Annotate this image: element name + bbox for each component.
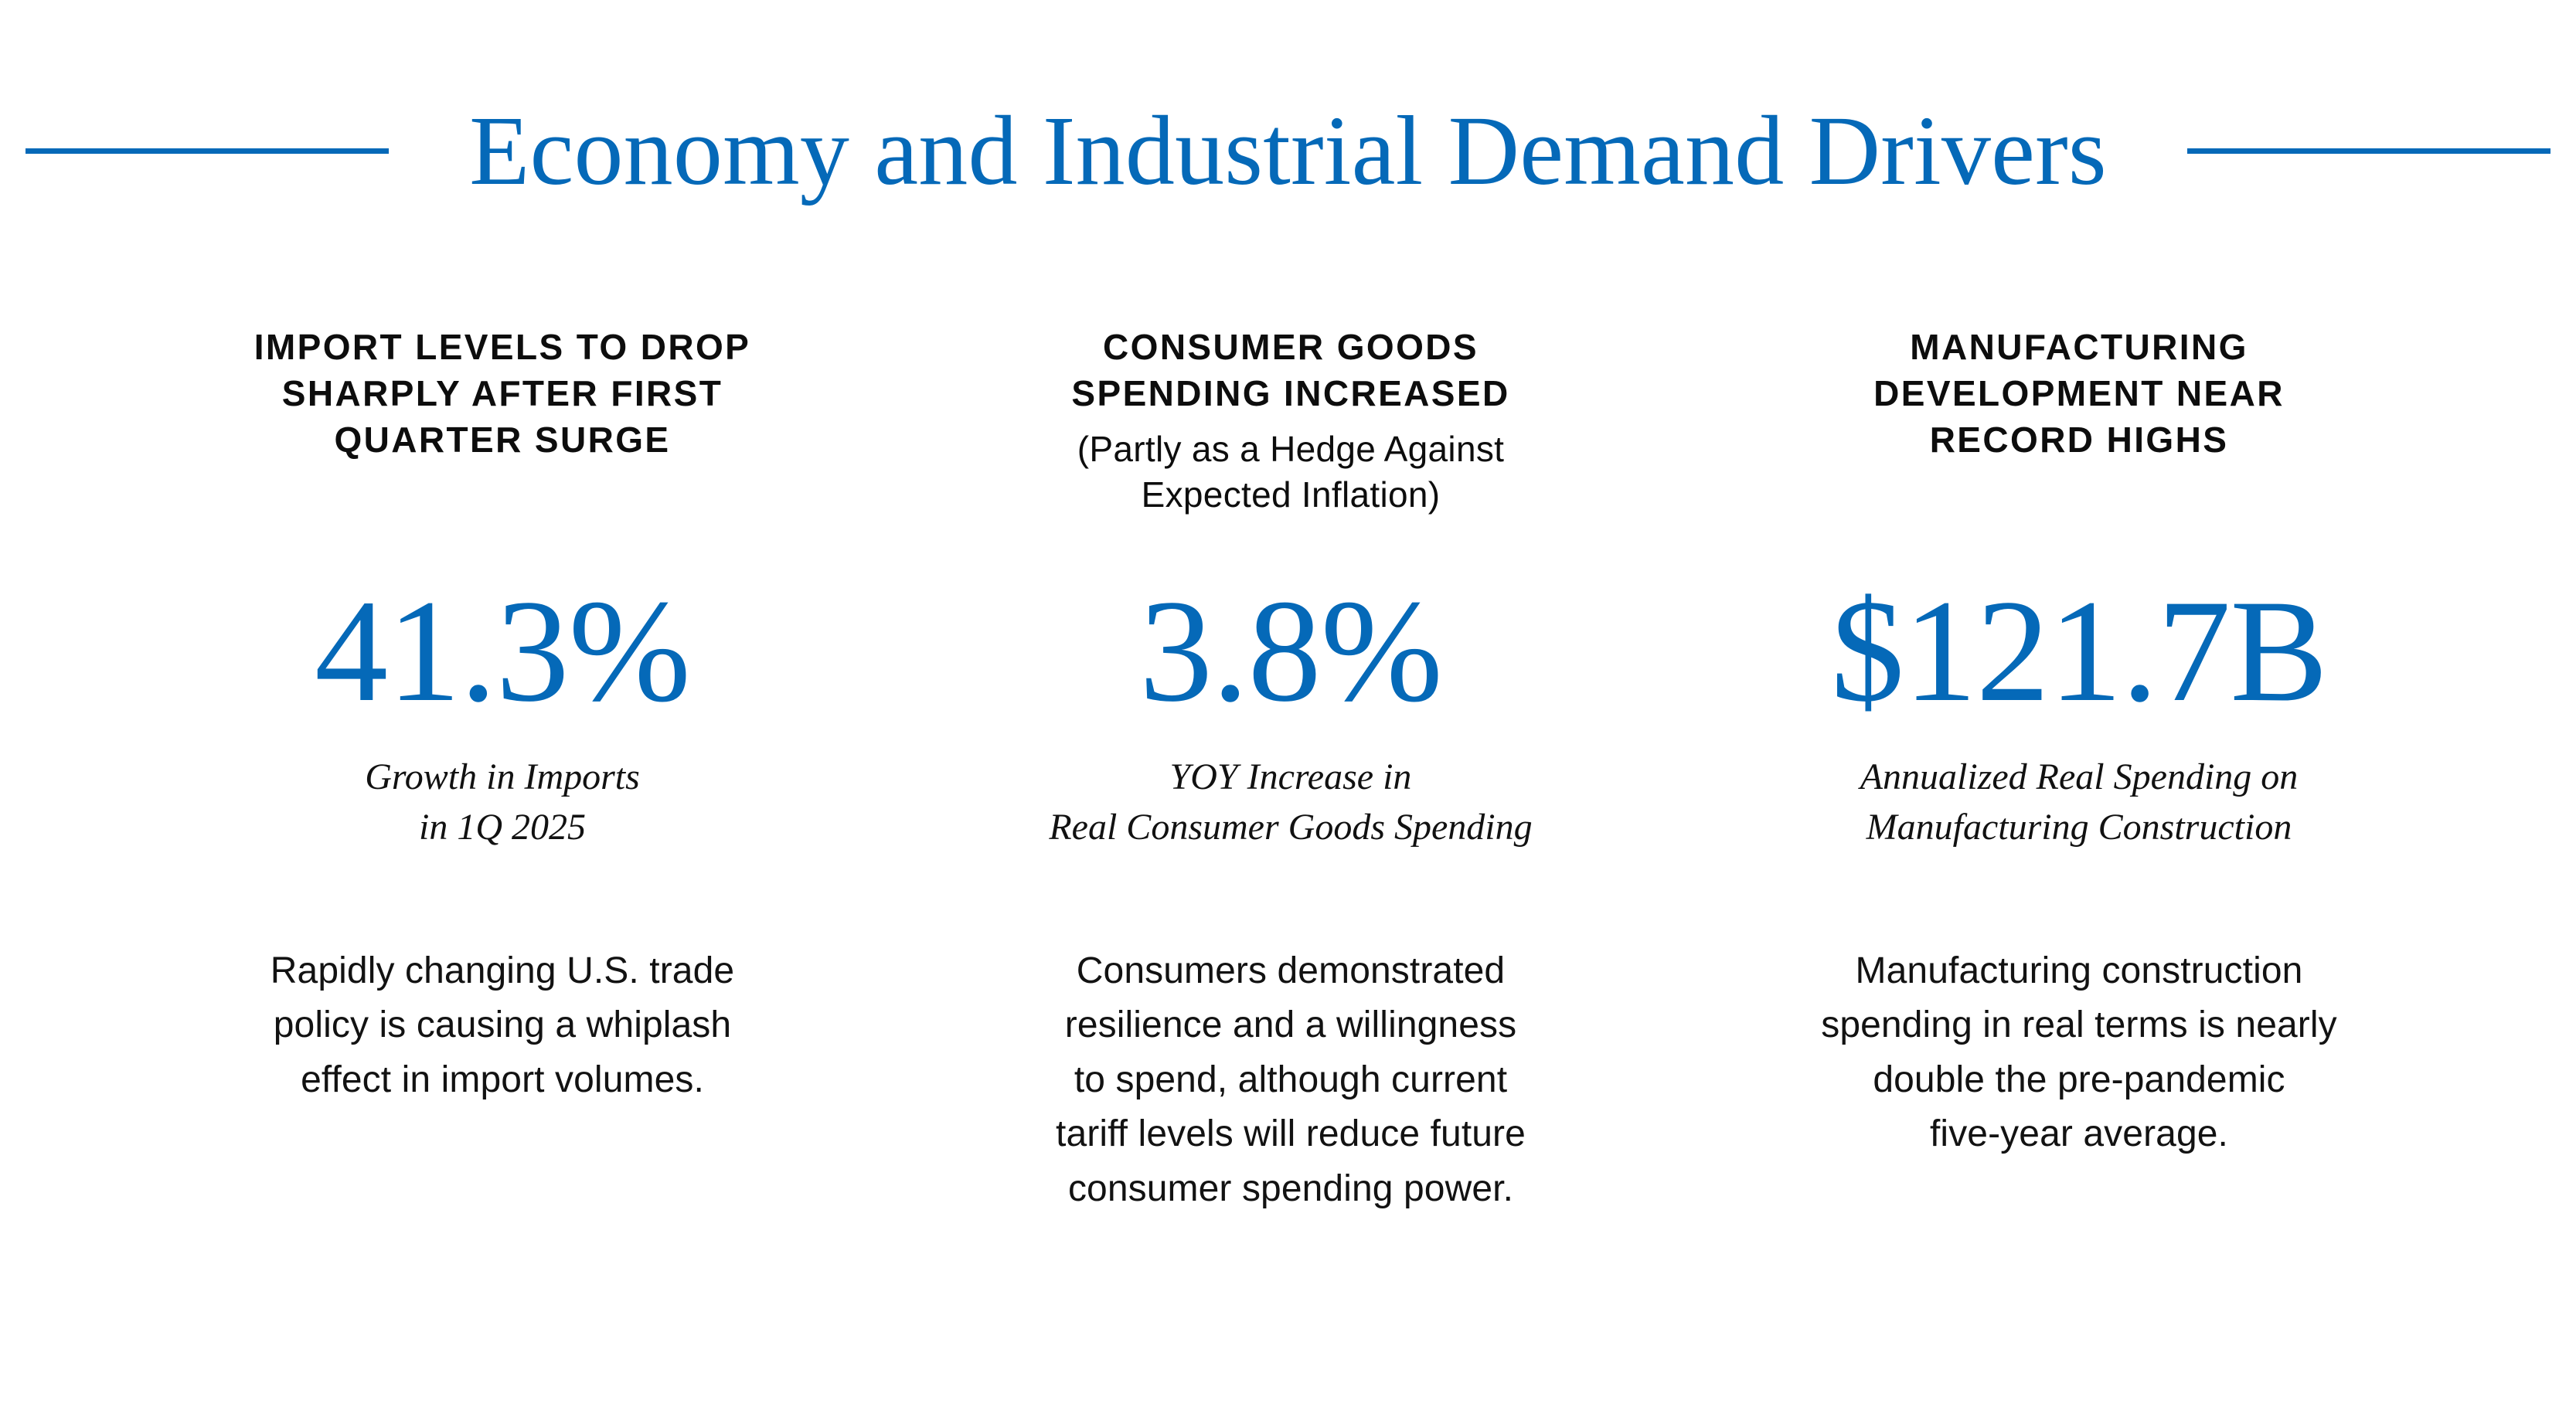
stat-caption: Growth in Imports in 1Q 2025 — [365, 753, 640, 853]
heading-line: CONSUMER GOODS — [904, 325, 1677, 371]
page-header: Economy and Industrial Demand Drivers — [0, 93, 2576, 209]
stat-columns: IMPORT LEVELS TO DROP SHARPLY AFTER FIRS… — [116, 325, 2465, 1216]
stat-caption: YOY Increase in Real Consumer Goods Spen… — [1049, 753, 1532, 853]
stat-value: 3.8% — [1139, 578, 1442, 725]
body-line: five-year average. — [1693, 1107, 2465, 1162]
column-body-text: Consumers demonstrated resilience and a … — [904, 944, 1677, 1217]
stat-value-wrap: $121.7B — [1693, 532, 2465, 725]
stat-value-wrap: 41.3% — [116, 532, 889, 725]
header-rule-left — [26, 148, 389, 154]
column-heading: MANUFACTURING DEVELOPMENT NEAR RECORD HI… — [1693, 325, 2465, 463]
caption-line: Annualized Real Spending on — [1860, 753, 2299, 803]
column-body-text: Rapidly changing U.S. trade policy is ca… — [116, 944, 889, 1108]
stat-column-imports: IMPORT LEVELS TO DROP SHARPLY AFTER FIRS… — [116, 325, 889, 1107]
stat-column-consumer-goods: CONSUMER GOODS SPENDING INCREASED (Partl… — [904, 325, 1677, 1216]
subheading-line: (Partly as a Hedge Against — [904, 427, 1677, 473]
heading-line: DEVELOPMENT NEAR — [1693, 371, 2465, 417]
body-line: Manufacturing construction — [1693, 944, 2465, 999]
heading-line: IMPORT LEVELS TO DROP — [116, 325, 889, 371]
column-subheading: (Partly as a Hedge Against Expected Infl… — [904, 427, 1677, 519]
body-line: resilience and a willingness — [904, 998, 1677, 1053]
stat-caption: Annualized Real Spending on Manufacturin… — [1860, 753, 2299, 853]
subheading-line: Expected Inflation) — [904, 472, 1677, 518]
caption-line: YOY Increase in — [1049, 753, 1532, 803]
stat-value: $121.7B — [1831, 578, 2327, 725]
body-line: Rapidly changing U.S. trade — [116, 944, 889, 999]
heading-block: CONSUMER GOODS SPENDING INCREASED (Partl… — [904, 325, 1677, 532]
caption-line: Manufacturing Construction — [1860, 803, 2299, 853]
body-block: Rapidly changing U.S. trade policy is ca… — [116, 944, 889, 1108]
body-line: effect in import volumes. — [116, 1053, 889, 1108]
body-line: consumer spending power. — [904, 1162, 1677, 1217]
body-line: double the pre-pandemic — [1693, 1053, 2465, 1108]
column-heading: IMPORT LEVELS TO DROP SHARPLY AFTER FIRS… — [116, 325, 889, 463]
caption-line: Real Consumer Goods Spending — [1049, 803, 1532, 853]
heading-line: QUARTER SURGE — [116, 417, 889, 464]
heading-line: MANUFACTURING — [1693, 325, 2465, 371]
body-line: tariff levels will reduce future — [904, 1107, 1677, 1162]
stat-value: 41.3% — [315, 578, 690, 725]
caption-line: Growth in Imports — [365, 753, 640, 803]
body-line: Consumers demonstrated — [904, 944, 1677, 999]
stat-value-wrap: 3.8% — [904, 532, 1677, 725]
body-line: spending in real terms is nearly — [1693, 998, 2465, 1053]
body-line: to spend, although current — [904, 1053, 1677, 1108]
stat-column-manufacturing: MANUFACTURING DEVELOPMENT NEAR RECORD HI… — [1693, 325, 2465, 1162]
header-rule-right — [2187, 148, 2550, 154]
heading-block: IMPORT LEVELS TO DROP SHARPLY AFTER FIRS… — [116, 325, 889, 532]
slide-root: Economy and Industrial Demand Drivers IM… — [0, 0, 2576, 1424]
caption-line: in 1Q 2025 — [365, 803, 640, 853]
heading-line: RECORD HIGHS — [1693, 417, 2465, 464]
column-heading: CONSUMER GOODS SPENDING INCREASED — [904, 325, 1677, 417]
heading-line: SHARPLY AFTER FIRST — [116, 371, 889, 417]
body-line: policy is causing a whiplash — [116, 998, 889, 1053]
heading-block: MANUFACTURING DEVELOPMENT NEAR RECORD HI… — [1693, 325, 2465, 532]
heading-line: SPENDING INCREASED — [904, 371, 1677, 417]
body-block: Consumers demonstrated resilience and a … — [904, 944, 1677, 1217]
body-block: Manufacturing construction spending in r… — [1693, 944, 2465, 1162]
column-body-text: Manufacturing construction spending in r… — [1693, 944, 2465, 1162]
page-title: Economy and Industrial Demand Drivers — [469, 101, 2107, 200]
